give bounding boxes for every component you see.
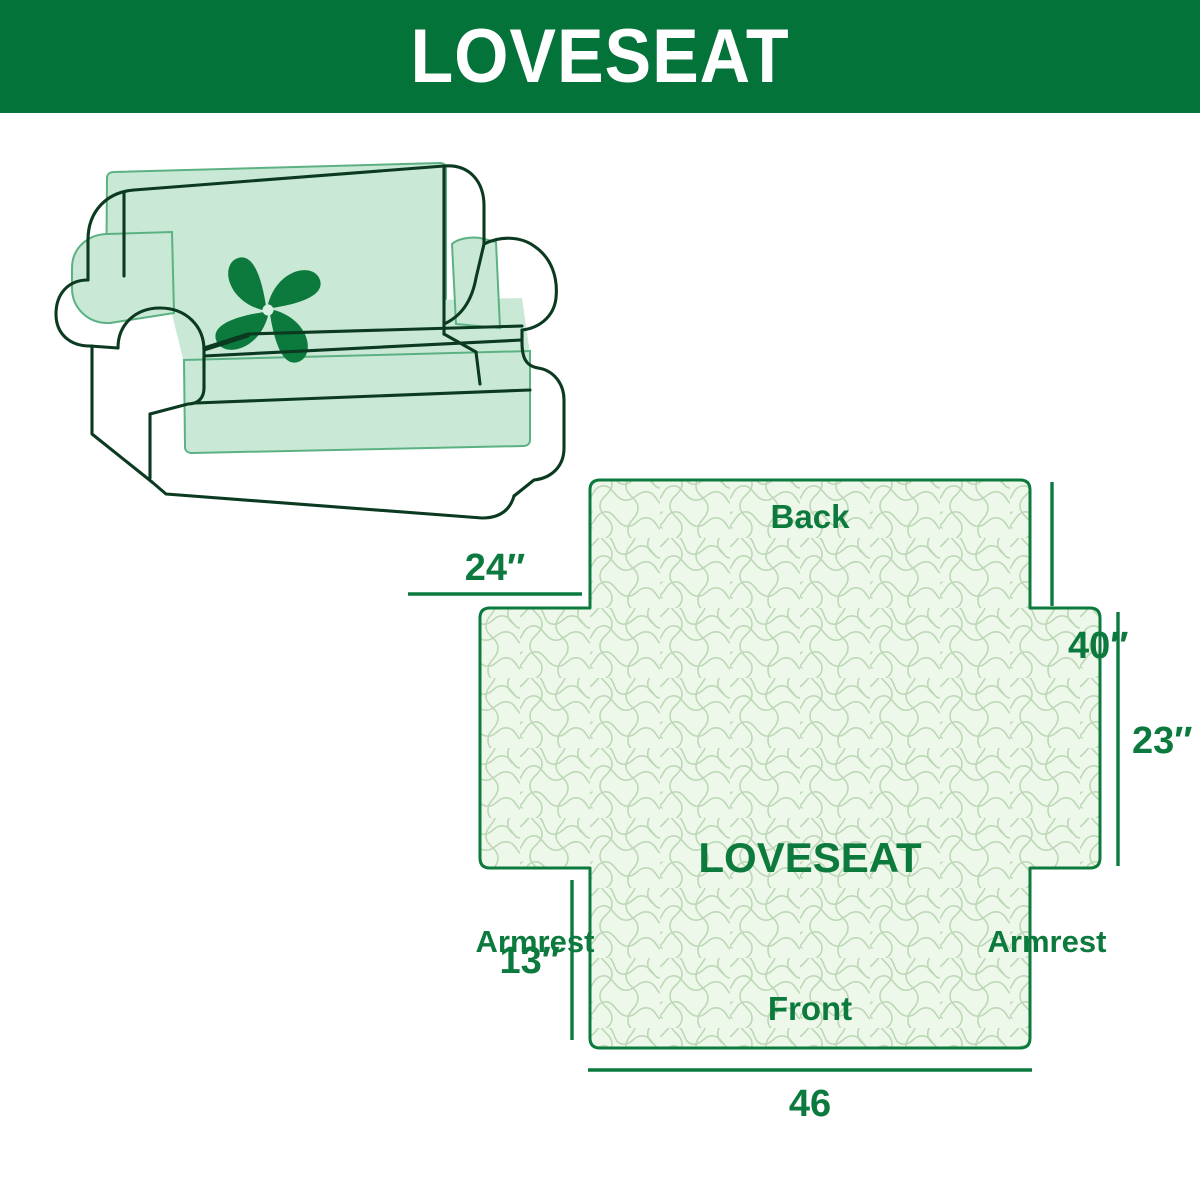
dimension-front-height: 13″ [500,880,572,1040]
panel-label-center: LOVESEAT [698,834,922,881]
dimension-back-width-label: 24″ [465,547,525,589]
dimension-front-width: 46 [588,1070,1032,1125]
cover-size-diagram-svg: Back LOVESEAT Armrest Armrest Front 40″ … [380,468,1200,1158]
page-title: LOVESEAT [410,19,789,95]
panel-label-back: Back [771,498,851,535]
dimension-front-height-label: 13″ [500,940,560,982]
page-header: LOVESEAT [0,0,1200,113]
dimension-back-width: 24″ [408,547,582,594]
dimension-armrest-depth: 23″ [1118,612,1192,866]
panel-label-front: Front [768,990,852,1027]
panel-label-armrest-right: Armrest [988,924,1107,959]
content-area: Back LOVESEAT Armrest Armrest Front 40″ … [0,113,1200,1200]
cover-size-diagram: Back LOVESEAT Armrest Armrest Front 40″ … [380,468,1200,1158]
dimension-armrest-depth-label: 23″ [1132,720,1192,762]
dimension-front-width-label: 46 [789,1083,831,1125]
